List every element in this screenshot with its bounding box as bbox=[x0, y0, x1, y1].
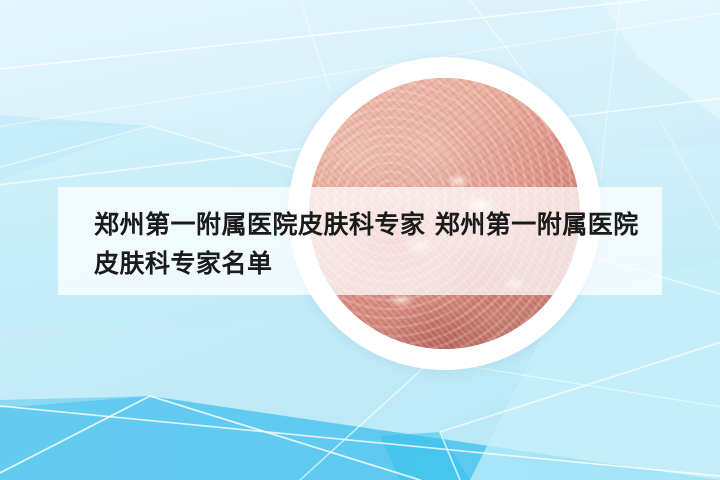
banner-image: 郑州第一附属医院皮肤科专家 郑州第一附属医院皮肤科专家名单 bbox=[0, 0, 720, 480]
caption-title: 郑州第一附属医院皮肤科专家 郑州第一附属医院皮肤科专家名单 bbox=[94, 205, 650, 283]
